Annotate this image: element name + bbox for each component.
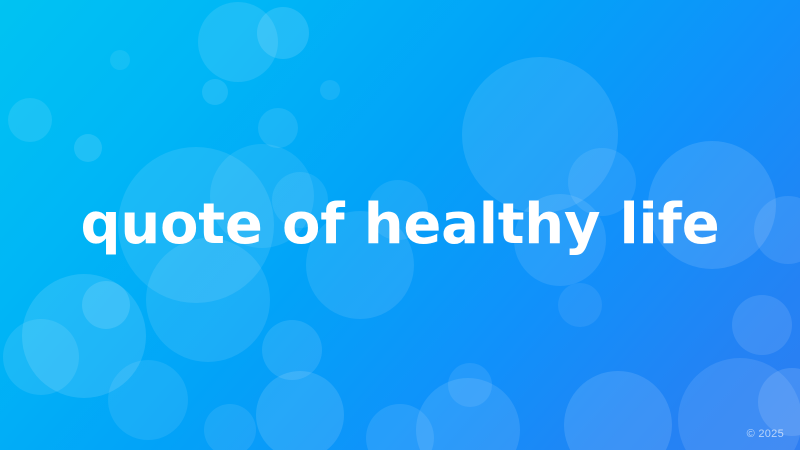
copyright-notice: © 2025 [747,428,784,440]
headline-container: quote of healthy life [0,0,800,450]
page-title: quote of healthy life [56,196,743,255]
banner-canvas: quote of healthy life © 2025 [0,0,800,450]
